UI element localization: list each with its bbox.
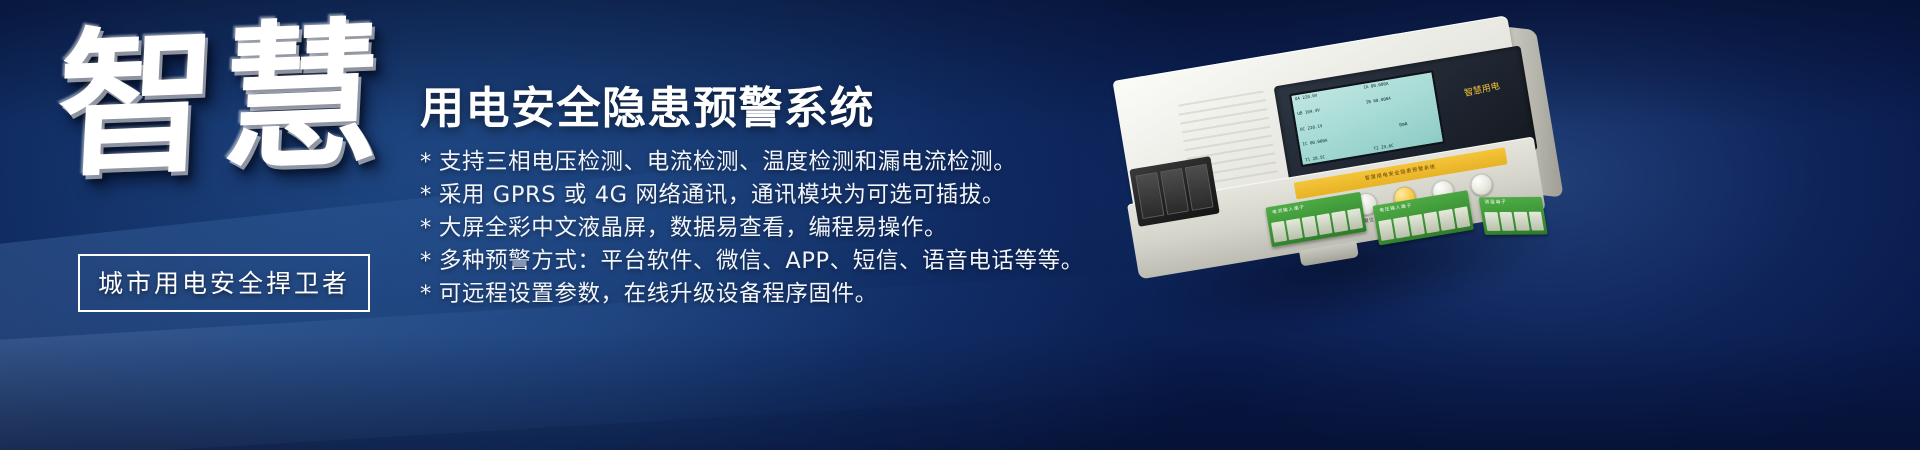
connector-pin [1135,172,1164,219]
list-item: *多种预警方式：平台软件、微信、APP、短信、语音电话等等。 [420,245,1120,278]
terminal-caption-voltage: 电压输入端子 [1379,202,1413,213]
terminal-screw [1514,212,1530,230]
list-item: *支持三相电压检测、电流检测、温度检测和漏电流检测。 [420,146,1120,179]
terminal-screw [1484,212,1500,230]
lcd-screen: UA 220.0V IA 00.000A UB 104.4V IB 00.000… [1289,70,1445,167]
device-terminal-block-temperature: 测温端子 [1479,197,1548,235]
feature-list: *支持三相电压检测、电流检测、温度检测和漏电流检测。 *采用 GPRS 或 4G… [420,146,1120,311]
list-item-label: 采用 GPRS 或 4G 网络通讯，通讯模块为可选可插拔。 [439,182,1005,208]
terminal-screw [1347,208,1363,230]
list-item: *可远程设置参数，在线升级设备程序固件。 [420,278,1120,311]
bullet-marker-icon: * [420,248,432,274]
terminal-screw [1424,212,1440,234]
slogan-badge: 城市用电安全捍卫者 [78,254,370,312]
terminal-screw [1286,218,1302,240]
terminal-screw [1271,221,1287,243]
lcd-line-t2: T2 29.6C [1373,136,1439,151]
terminal-screw [1409,214,1425,236]
list-item-label: 大屏全彩中文液晶屏，数据易查看，编程易操作。 [439,215,947,241]
terminal-screw [1316,213,1332,235]
list-item-label: 支持三相电压检测、电流检测、温度检测和漏电流检测。 [439,149,1017,175]
terminal-screw [1528,212,1544,230]
terminal-screw [1439,209,1455,231]
list-item: *大屏全彩中文液晶屏，数据易查看，编程易操作。 [420,212,1120,245]
bullet-marker-icon: * [420,182,432,208]
terminal-screw [1393,217,1409,239]
list-item-label: 多种预警方式：平台软件、微信、APP、短信、语音电话等等。 [439,248,1084,274]
copy-column: 用电安全隐患预警系统 *支持三相电压检测、电流检测、温度检测和漏电流检测。 *采… [420,86,1120,311]
terminal-screw [1301,216,1317,238]
terminal-screw [1499,212,1515,230]
terminal-screw [1454,207,1470,229]
bullet-marker-icon: * [420,281,432,307]
device-brand-mark: 智慧用电 [1446,75,1517,103]
connector-pin [1160,168,1189,215]
bullet-marker-icon: * [420,149,432,175]
list-item-label: 可远程设置参数，在线升级设备程序固件。 [439,281,878,307]
list-item: *采用 GPRS 或 4G 网络通讯，通讯模块为可选可插拔。 [420,179,1120,212]
device-button-enter[interactable]: 确定 [1469,172,1494,197]
connector-pin [1185,164,1214,211]
calligraphy-text: 智慧 [54,16,403,187]
terminal-screw [1378,219,1394,241]
page-title: 用电安全隐患预警系统 [420,86,1120,133]
terminal-caption-current: 电流输入端子 [1272,204,1306,215]
product-device-image: UA 220.0V IA 00.000A UB 104.4V IB 00.000… [1069,0,1622,358]
terminal-screw [1332,211,1348,233]
calligraphy-block: 智慧 [58,22,398,262]
lcd-leakage-value: 0mA [1399,123,1408,129]
banner-root: 智慧 城市用电安全捍卫者 用电安全隐患预警系统 *支持三相电压检测、电流检测、温… [0,0,1920,450]
bullet-marker-icon: * [420,215,432,241]
terminal-caption-temperature: 测温端子 [1484,199,1507,205]
